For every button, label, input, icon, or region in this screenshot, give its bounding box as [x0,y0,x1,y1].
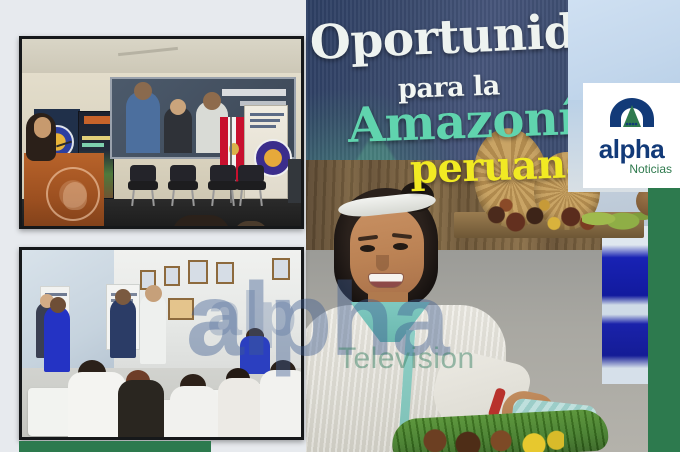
photo-conference-stage [19,36,304,229]
podium-seal [46,167,100,221]
banner-text-line [250,119,280,122]
screen-title-text [222,89,286,96]
logo-subtitle: Noticias [629,163,672,175]
stage-chair [128,165,158,205]
banner-text-line [82,136,112,140]
logo-wordmark: alpha [599,136,664,162]
banner-logo [84,116,110,124]
seated-person [218,378,262,440]
screenshot-canvas: Oportunidades para la Amazonía peruana [0,0,680,452]
side-equipment [288,159,304,203]
ceiling-fixture [118,47,178,56]
alpha-arch-tree-logo-icon [607,97,657,133]
wooden-podium [24,153,104,229]
stage-chair [208,165,238,205]
ceiling [22,39,301,73]
wall-portrait [272,258,290,280]
woman-eye-left [360,245,375,252]
screen-figure-2 [164,107,192,153]
seated-person [170,386,218,440]
speaker-face [34,117,51,138]
screen-figure-1 [126,91,160,153]
banner-text-line [250,125,276,128]
photo-audience-workshop: alp [19,247,304,440]
alpha-noticias-logo[interactable]: alpha Noticias [583,83,680,188]
banner-text-line [250,113,284,116]
stage-chair [236,165,266,205]
stage-chair [168,165,198,205]
seated-person [118,380,164,440]
woman-nose [376,255,389,271]
green-accent-bar-right [648,180,680,452]
banner-text-line [82,143,104,147]
wall-portrait [164,266,180,286]
woman-eye-right [393,243,408,250]
standing-presenter [140,294,166,364]
green-accent-bar-bottom [19,441,211,452]
food-contents [414,424,564,452]
seated-person [260,370,304,440]
standing-person [110,298,136,358]
woman-smile [368,273,404,288]
wall-portrait [188,260,208,284]
plastic-chair [28,388,72,436]
wall-painting [168,298,194,320]
